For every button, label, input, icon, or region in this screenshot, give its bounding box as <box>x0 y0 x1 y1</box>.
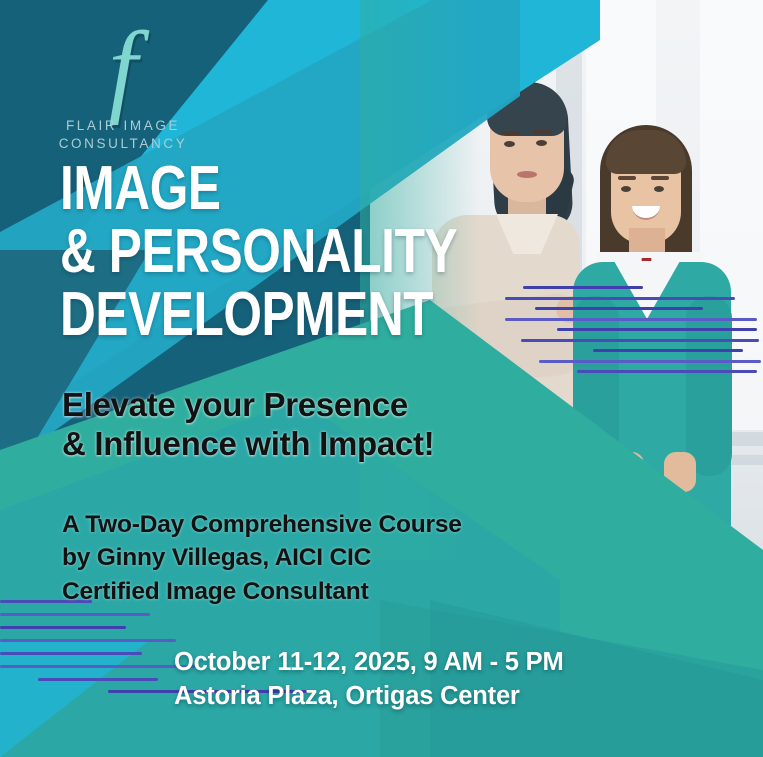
flair-script-f-logo-icon: f <box>48 24 198 113</box>
course-line-1: A Two-Day Comprehensive Course <box>62 508 622 541</box>
headline-line-3: DEVELOPMENT <box>60 286 556 343</box>
event-venue: Astoria Plaza, Ortigas Center <box>174 679 754 713</box>
course-description: A Two-Day Comprehensive Course by Ginny … <box>62 508 622 608</box>
brand-logo: f FLAIR IMAGE CONSULTANCY <box>48 24 198 152</box>
event-date-time: October 11-12, 2025, 9 AM - 5 PM <box>174 645 754 679</box>
course-line-3: Certified Image Consultant <box>62 575 622 608</box>
tagline-line-1: Elevate your Presence <box>62 386 622 425</box>
brand-name-line2: CONSULTANCY <box>48 135 198 152</box>
brand-name-line1: FLAIR IMAGE <box>48 117 198 134</box>
event-poster: f FLAIR IMAGE CONSULTANCY IMAGE & PERSON… <box>0 0 763 757</box>
poster-headline: IMAGE & PERSONALITY DEVELOPMENT <box>60 160 680 349</box>
headline-line-1: IMAGE <box>60 160 556 217</box>
headline-line-2: & PERSONALITY <box>60 223 556 280</box>
course-line-2: by Ginny Villegas, AICI CIC <box>62 541 622 574</box>
brand-logo-wordmark: FLAIR IMAGE CONSULTANCY <box>48 117 198 152</box>
tagline-line-2: & Influence with Impact! <box>62 425 622 464</box>
event-details: October 11-12, 2025, 9 AM - 5 PM Astoria… <box>174 645 754 713</box>
poster-tagline: Elevate your Presence & Influence with I… <box>62 386 622 464</box>
